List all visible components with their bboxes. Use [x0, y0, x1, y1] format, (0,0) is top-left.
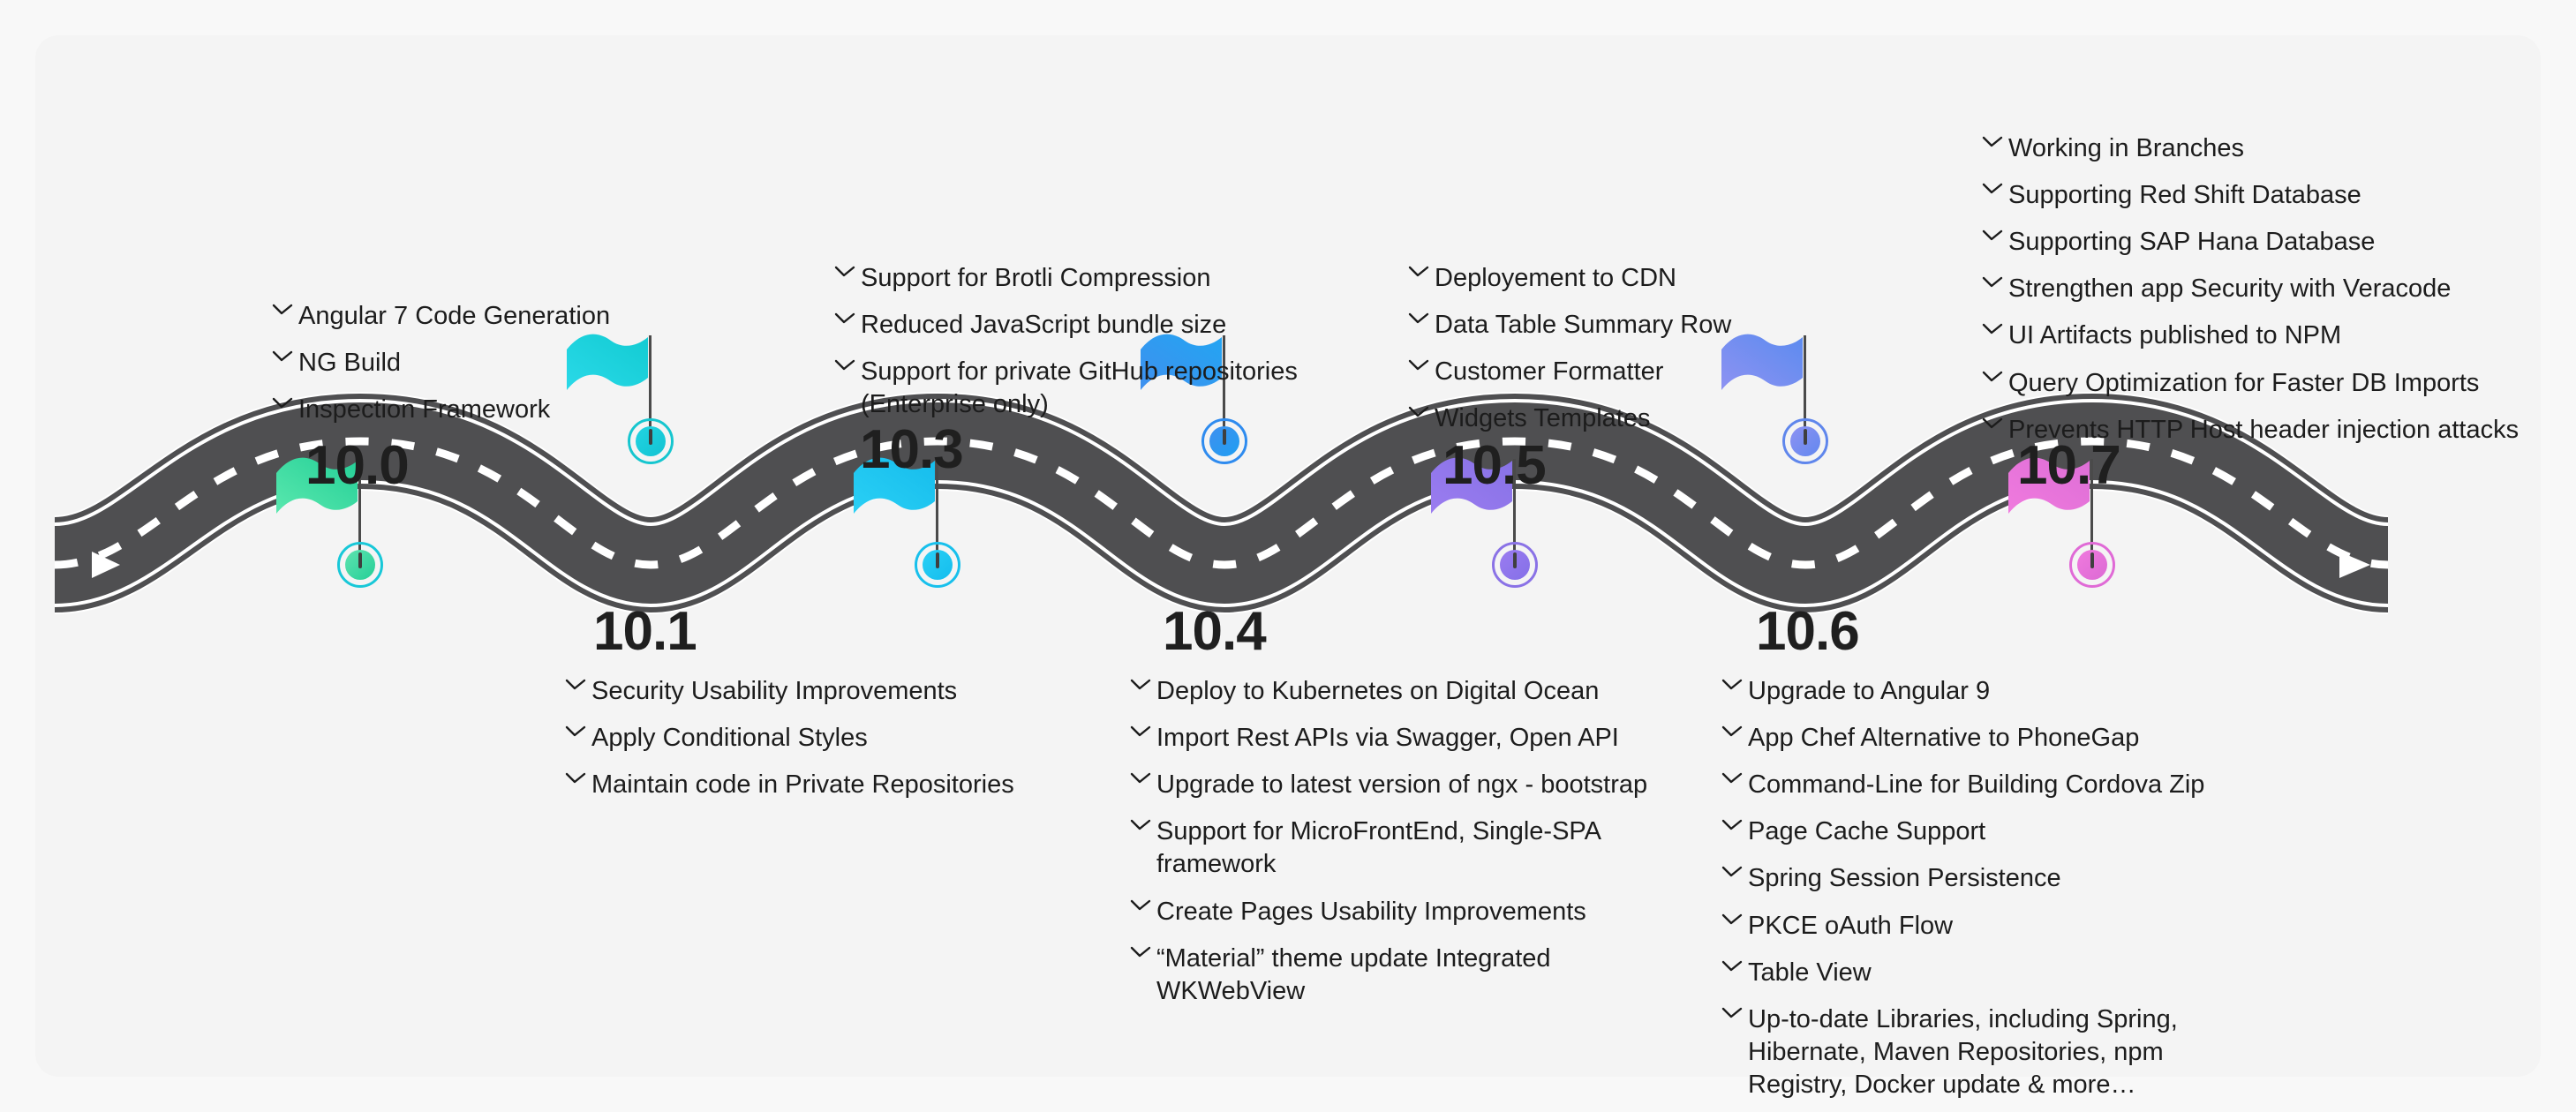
marker-stem	[1513, 552, 1517, 568]
feature-item: PKCE oAuth Flow	[1721, 910, 2269, 943]
feature-item: Page Cache Support	[1721, 815, 2269, 848]
feature-item-label: Data Table Summary Row	[1435, 309, 1731, 342]
feature-item-label: Security Usability Improvements	[591, 675, 957, 708]
feature-item: Up-to-date Libraries, including Spring, …	[1721, 1003, 2269, 1101]
feature-item: Support for MicroFrontEnd, Single-SPA fr…	[1130, 815, 1677, 881]
feature-list-10-3: Support for Brotli CompressionReduced Ja…	[834, 262, 1346, 421]
check-icon	[1130, 772, 1156, 785]
feature-item: Supporting SAP Hana Database	[1982, 226, 2547, 259]
feature-item-label: Upgrade to latest version of ngx - boots…	[1156, 769, 1647, 801]
version-label-10-4: 10.4	[1163, 600, 1266, 663]
feature-item: Command-Line for Building Cordova Zip	[1721, 769, 2269, 801]
feature-item-label: Customer Formatter	[1435, 356, 1663, 388]
feature-item-label: Widgets Templates	[1435, 402, 1650, 435]
feature-list-10-7: Working in BranchesSupporting Red Shift …	[1982, 132, 2547, 447]
check-icon	[1721, 819, 1748, 831]
feature-item-label: Supporting SAP Hana Database	[2008, 226, 2375, 259]
check-icon	[1721, 679, 1748, 691]
feature-list-10-5: Deployement to CDNData Table Summary Row…	[1408, 262, 1902, 435]
check-icon	[1130, 819, 1156, 831]
check-icon	[1408, 359, 1435, 372]
feature-item: Data Table Summary Row	[1408, 309, 1902, 342]
feature-item-label: Upgrade to Angular 9	[1748, 675, 1990, 708]
check-icon	[1721, 1007, 1748, 1019]
check-icon	[1721, 866, 1748, 878]
check-icon	[1982, 323, 2008, 335]
roadmap-card: 10.0 10.1 10.3 10.4 10.5 10.6 10.7 Angul…	[35, 35, 2541, 1077]
check-icon	[834, 266, 861, 278]
feature-item: App Chef Alternative to PhoneGap	[1721, 722, 2269, 755]
check-icon	[565, 679, 591, 691]
check-icon	[272, 397, 298, 409]
feature-item: Table View	[1721, 957, 2269, 989]
check-icon	[1982, 276, 2008, 289]
feature-item-label: Support for MicroFrontEnd, Single-SPA fr…	[1156, 815, 1601, 881]
feature-item-label: Support for private GitHub repositories …	[861, 356, 1298, 421]
version-label-10-6: 10.6	[1756, 600, 1859, 663]
feature-item: Prevents HTTP Host header injection atta…	[1982, 414, 2547, 447]
feature-item-label: Deployement to CDN	[1435, 262, 1676, 295]
check-icon	[1982, 371, 2008, 383]
check-icon	[1982, 183, 2008, 195]
feature-item-label: Angular 7 Code Generation	[298, 300, 610, 333]
feature-item-label: Spring Session Persistence	[1748, 862, 2061, 895]
feature-item: Query Optimization for Faster DB Imports	[1982, 367, 2547, 400]
feature-item: Apply Conditional Styles	[565, 722, 1095, 755]
version-label-10-5: 10.5	[1442, 434, 1546, 497]
feature-item-label: Page Cache Support	[1748, 815, 1985, 848]
feature-list-10-0: Angular 7 Code GenerationNG BuildInspect…	[272, 300, 731, 426]
feature-item-label: Import Rest APIs via Swagger, Open API	[1156, 722, 1619, 755]
feature-item-label: App Chef Alternative to PhoneGap	[1748, 722, 2139, 755]
feature-item-label: UI Artifacts published to NPM	[2008, 319, 2341, 352]
feature-item: UI Artifacts published to NPM	[1982, 319, 2547, 352]
feature-list-10-6: Upgrade to Angular 9App Chef Alternative…	[1721, 675, 2269, 1101]
check-icon	[834, 359, 861, 372]
feature-item: Customer Formatter	[1408, 356, 1902, 388]
feature-item: Spring Session Persistence	[1721, 862, 2269, 895]
feature-item: Import Rest APIs via Swagger, Open API	[1130, 722, 1677, 755]
feature-item-label: Strengthen app Security with Veracode	[2008, 273, 2451, 305]
feature-item: Deploy to Kubernetes on Digital Ocean	[1130, 675, 1677, 708]
feature-item-label: Supporting Red Shift Database	[2008, 179, 2361, 212]
check-icon	[1130, 725, 1156, 738]
feature-item-label: Command-Line for Building Cordova Zip	[1748, 769, 2204, 801]
check-icon	[1982, 229, 2008, 242]
marker-stem	[1223, 429, 1226, 445]
check-icon	[565, 772, 591, 785]
feature-item-label: Prevents HTTP Host header injection atta…	[2008, 414, 2519, 447]
feature-item: Inspection Framework	[272, 394, 731, 426]
marker-stem	[358, 552, 362, 568]
check-icon	[1721, 725, 1748, 738]
check-icon	[1130, 679, 1156, 691]
marker-stem	[936, 552, 939, 568]
feature-list-10-1: Security Usability ImprovementsApply Con…	[565, 675, 1095, 801]
feature-item-label: Up-to-date Libraries, including Spring, …	[1748, 1003, 2178, 1101]
feature-item: Upgrade to latest version of ngx - boots…	[1130, 769, 1677, 801]
check-icon	[1130, 899, 1156, 912]
feature-item: Working in Branches	[1982, 132, 2547, 165]
check-icon	[1130, 946, 1156, 958]
feature-item: Reduced JavaScript bundle size	[834, 309, 1346, 342]
marker-stem	[649, 429, 652, 445]
marker-stem	[2090, 552, 2094, 568]
check-icon	[272, 350, 298, 363]
feature-item-label: Create Pages Usability Improvements	[1156, 896, 1586, 928]
check-icon	[1982, 136, 2008, 148]
feature-item: Create Pages Usability Improvements	[1130, 896, 1677, 928]
feature-item: Maintain code in Private Repositories	[565, 769, 1095, 801]
feature-item-label: Query Optimization for Faster DB Imports	[2008, 367, 2479, 400]
feature-item-label: NG Build	[298, 347, 401, 379]
roadmap-road	[35, 415, 2576, 715]
feature-item-label: Apply Conditional Styles	[591, 722, 868, 755]
check-icon	[272, 304, 298, 316]
check-icon	[1721, 960, 1748, 973]
feature-item: Support for Brotli Compression	[834, 262, 1346, 295]
feature-item-label: Working in Branches	[2008, 132, 2244, 165]
feature-item-label: Support for Brotli Compression	[861, 262, 1211, 295]
check-icon	[1408, 266, 1435, 278]
feature-item: Supporting Red Shift Database	[1982, 179, 2547, 212]
check-icon	[565, 725, 591, 738]
feature-item-label: Reduced JavaScript bundle size	[861, 309, 1226, 342]
roadmap-stage: 10.0 10.1 10.3 10.4 10.5 10.6 10.7 Angul…	[35, 35, 2541, 1077]
feature-item-label: Deploy to Kubernetes on Digital Ocean	[1156, 675, 1599, 708]
check-icon	[1721, 772, 1748, 785]
feature-item: “Material” theme update Integrated WKWeb…	[1130, 943, 1677, 1008]
check-icon	[1721, 913, 1748, 926]
check-icon	[1408, 406, 1435, 418]
feature-item-label: Maintain code in Private Repositories	[591, 769, 1014, 801]
feature-item: Security Usability Improvements	[565, 675, 1095, 708]
check-icon	[1408, 312, 1435, 325]
feature-item: Deployement to CDN	[1408, 262, 1902, 295]
version-label-10-1: 10.1	[593, 600, 697, 663]
version-label-10-0: 10.0	[305, 434, 409, 497]
check-icon	[1982, 417, 2008, 430]
check-icon	[834, 312, 861, 325]
feature-item-label: Table View	[1748, 957, 1872, 989]
feature-list-10-4: Deploy to Kubernetes on Digital OceanImp…	[1130, 675, 1677, 1008]
feature-item: Upgrade to Angular 9	[1721, 675, 2269, 708]
feature-item: Support for private GitHub repositories …	[834, 356, 1346, 421]
feature-item-label: “Material” theme update Integrated WKWeb…	[1156, 943, 1551, 1008]
feature-item: Widgets Templates	[1408, 402, 1902, 435]
version-label-10-3: 10.3	[860, 418, 963, 481]
feature-item: Angular 7 Code Generation	[272, 300, 731, 333]
feature-item-label: Inspection Framework	[298, 394, 550, 426]
feature-item: Strengthen app Security with Veracode	[1982, 273, 2547, 305]
feature-item: NG Build	[272, 347, 731, 379]
feature-item-label: PKCE oAuth Flow	[1748, 910, 1953, 943]
